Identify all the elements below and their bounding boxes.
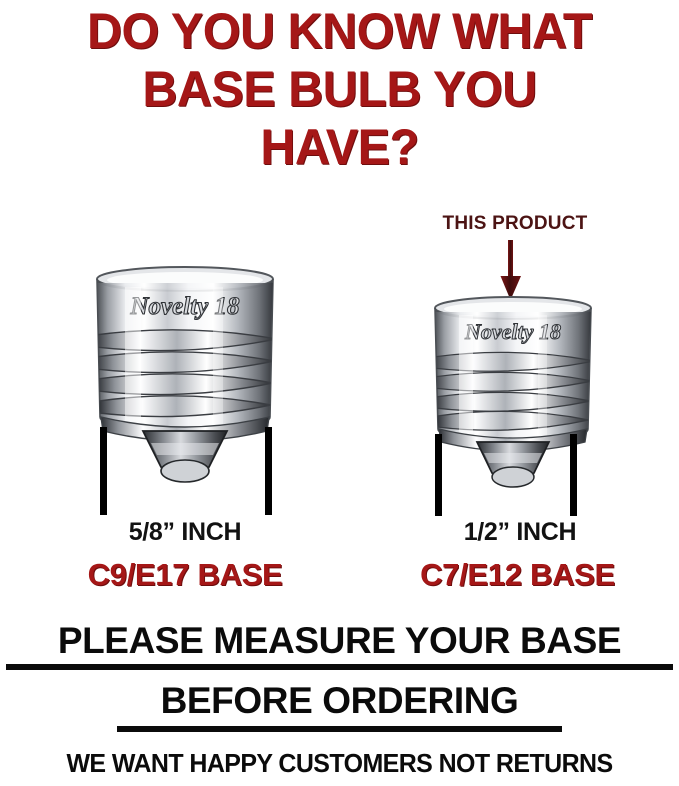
instruction-line-2-text: BEFORE ORDERING [161, 680, 519, 722]
base-type-label-left: C9/E17 BASE [55, 557, 315, 593]
measurement-label-left: 5/8” INCH [75, 518, 295, 547]
down-arrow-icon [497, 240, 525, 300]
bulb-embossed-text-left: Novelty 18 [130, 293, 240, 320]
bulb-figure-c9-e17: Novelty 18 [85, 265, 285, 495]
measure-tick-left-bulb-start [100, 427, 107, 515]
headline-line-3: HAVE? [10, 118, 669, 176]
infographic-canvas: DO YOU KNOW WHAT BASE BULB YOU HAVE? THI… [0, 0, 679, 786]
instruction-underline-2 [117, 726, 562, 732]
measurement-label-right: 1/2” INCH [415, 518, 625, 547]
instruction-line-2: BEFORE ORDERING [0, 680, 679, 722]
measure-tick-left-bulb-end [265, 427, 272, 515]
instruction-line-1-text: PLEASE MEASURE YOUR BASE [58, 620, 621, 662]
headline-line-1: DO YOU KNOW WHAT [10, 2, 669, 60]
measure-tick-right-bulb-end [570, 434, 577, 516]
instruction-line-3-text: WE WANT HAPPY CUSTOMERS NOT RETURNS [66, 748, 612, 779]
instruction-underline-1 [6, 664, 673, 670]
measure-tick-right-bulb-start [435, 434, 442, 516]
instruction-line-1: PLEASE MEASURE YOUR BASE [0, 620, 679, 662]
base-type-label-right: C7/E12 BASE [385, 557, 650, 593]
this-product-label: THIS PRODUCT [390, 213, 640, 235]
instruction-line-3: WE WANT HAPPY CUSTOMERS NOT RETURNS [14, 748, 666, 779]
headline-line-2: BASE BULB YOU [10, 60, 669, 118]
